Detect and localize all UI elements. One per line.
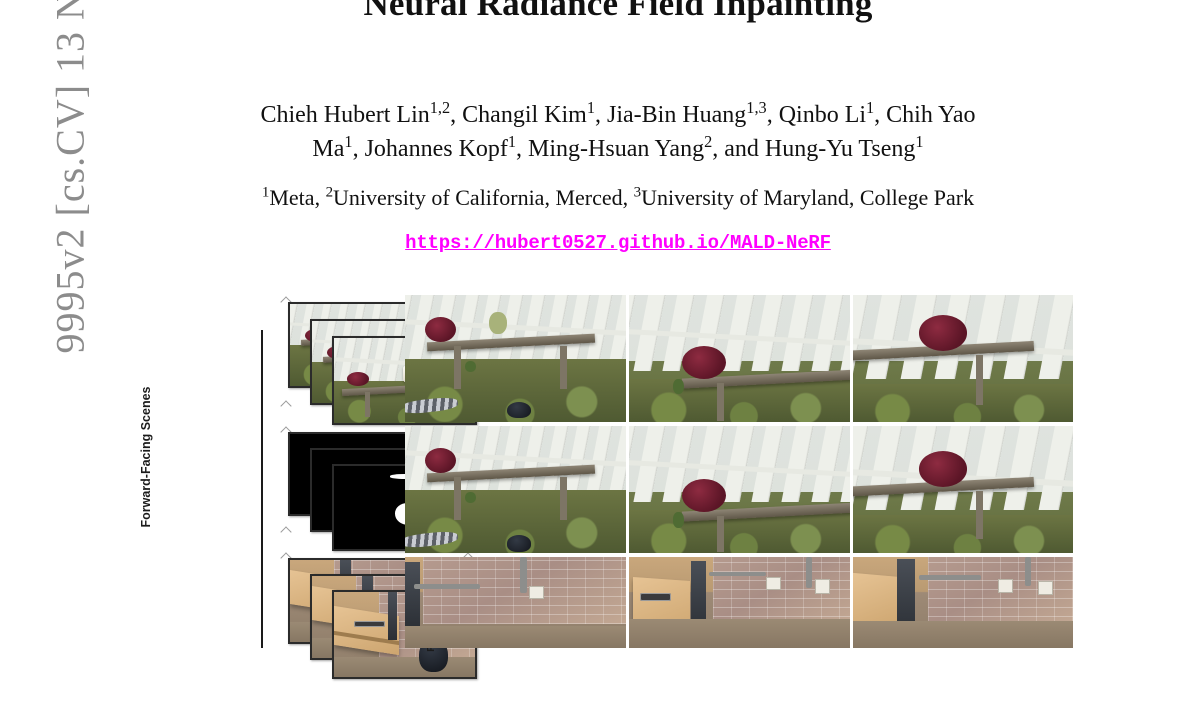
flower-decor — [425, 448, 456, 473]
author-name: Ming-Hsuan Yang2 — [528, 136, 712, 162]
affiliation-marker: 2 — [326, 185, 333, 201]
project-page-link[interactable]: https://hubert0527.github.io/MALD-NeRF — [118, 232, 1118, 254]
affiliation-marker: 1 — [262, 185, 269, 201]
bench-leg-decor — [560, 346, 567, 389]
bench-leg-decor — [454, 346, 461, 389]
garden-result — [853, 295, 1073, 422]
floor-decor — [629, 619, 850, 648]
author-affiliation-marker: 1 — [866, 98, 874, 117]
author-name: Changil Kim1 — [462, 102, 595, 128]
outlet-decor — [529, 586, 544, 599]
paper-first-page: Neural Radiance Field Inpainting Chieh H… — [118, 0, 1118, 648]
indoor-result — [853, 557, 1073, 648]
garden-result — [629, 295, 850, 422]
flower-decor — [347, 372, 370, 386]
pipe-decor — [414, 584, 480, 589]
outlet-decor — [815, 579, 830, 594]
grid-cell[interactable] — [853, 295, 1073, 422]
outlet-decor — [998, 579, 1013, 593]
flower-decor — [919, 315, 967, 351]
author-line-2: Ma1, Johannes Kopf1, Ming-Hsuan Yang2, a… — [118, 132, 1118, 166]
affiliation-marker: 3 — [634, 185, 641, 201]
pipe-decor — [1025, 557, 1032, 586]
affiliation: 2University of California, Merced — [326, 185, 623, 210]
bench-leg-decor — [454, 477, 461, 520]
bush-decor — [489, 312, 507, 335]
bench-leg-decor — [976, 491, 983, 539]
floor-decor — [405, 626, 626, 648]
indoor-result — [405, 557, 626, 648]
corner-tick-icon — [280, 400, 291, 411]
bush-decor — [673, 379, 684, 394]
author-affiliation-marker: 1 — [587, 98, 595, 117]
pipe-decor — [520, 557, 527, 593]
author-name: Chieh Hubert Lin1,2 — [260, 102, 450, 128]
author-affiliation-marker: 1 — [915, 132, 923, 151]
grid-cell[interactable] — [405, 557, 626, 648]
indoor-result — [629, 557, 850, 648]
bush-decor — [673, 512, 684, 527]
bench-leg-decor — [717, 383, 724, 421]
keyboard-decor — [640, 593, 671, 600]
fence-decor — [629, 295, 850, 371]
bench-leg-decor — [717, 516, 724, 552]
results-grid[interactable] — [405, 295, 1073, 648]
bench-leg-decor — [365, 392, 370, 418]
bush-decor — [465, 361, 476, 372]
garden-result — [629, 426, 850, 553]
dark-object-decor — [507, 535, 531, 552]
arxiv-stamp: 9995v2 [cs.CV] 13 Nov 20 — [47, 0, 94, 354]
author-affiliation-marker: 1 — [508, 132, 516, 151]
flower-decor — [682, 346, 726, 379]
grass-decor — [853, 515, 1073, 553]
grid-cell[interactable] — [853, 426, 1073, 553]
bush-decor — [465, 492, 476, 503]
flower-decor — [919, 451, 967, 487]
author-affiliation-marker: 1,3 — [746, 98, 766, 117]
author-list: Chieh Hubert Lin1,2, Changil Kim1, Jia-B… — [118, 98, 1118, 166]
affiliation: 1Meta — [262, 185, 315, 210]
grid-cell[interactable] — [853, 557, 1073, 648]
author-affiliation-marker: 2 — [704, 132, 712, 151]
garden-result — [853, 426, 1073, 553]
grid-cell[interactable] — [405, 426, 626, 553]
group-bracket-rule — [261, 330, 263, 648]
grid-cell[interactable] — [629, 557, 850, 648]
affiliation: 3University of Maryland, College Park — [634, 185, 974, 210]
fence-decor — [629, 426, 850, 502]
dark-frame-decor — [405, 562, 420, 629]
pipe-decor — [806, 557, 813, 588]
author-name: Qinbo Li1 — [779, 102, 874, 128]
outlet-decor — [1038, 581, 1053, 596]
keyboard-decor — [354, 621, 385, 627]
bench-leg-decor — [560, 477, 567, 520]
garden-result — [405, 426, 626, 553]
grid-cell[interactable] — [629, 295, 850, 422]
author-affiliation-marker: 1,2 — [430, 98, 450, 117]
figure-group-label: Forward-Facing Scenes — [139, 337, 153, 577]
grid-cell[interactable] — [405, 295, 626, 422]
author-name: Johannes Kopf1 — [365, 136, 516, 162]
grid-cell[interactable] — [629, 426, 850, 553]
garden-result — [405, 295, 626, 422]
floor-decor — [853, 621, 1073, 648]
bench-leg-decor — [976, 355, 983, 406]
affiliation-list: 1Meta, 2University of California, Merced… — [118, 185, 1118, 211]
pipe-decor — [919, 575, 981, 580]
author-line-1: Chieh Hubert Lin1,2, Changil Kim1, Jia-B… — [118, 98, 1118, 132]
author-affiliation-marker: 1 — [344, 132, 352, 151]
outlet-decor — [766, 577, 781, 590]
author-name: Chih Yao — [886, 102, 975, 128]
teaser-figure: Forward-Facing Scenes — [118, 290, 1118, 648]
dark-object-decor — [507, 402, 531, 419]
author-name: Jia-Bin Huang1,3 — [607, 102, 767, 128]
corner-tick-icon — [280, 526, 291, 537]
dark-frame-decor — [388, 592, 398, 640]
flower-decor — [425, 317, 456, 342]
grass-decor — [853, 384, 1073, 422]
pipe-decor — [709, 572, 766, 577]
author-name: and Hung-Yu Tseng1 — [724, 136, 923, 162]
flower-decor — [682, 479, 726, 512]
floor-decor — [334, 657, 475, 677]
page-title: Neural Radiance Field Inpainting — [118, 0, 1118, 24]
author-name: Ma1 — [312, 136, 352, 162]
